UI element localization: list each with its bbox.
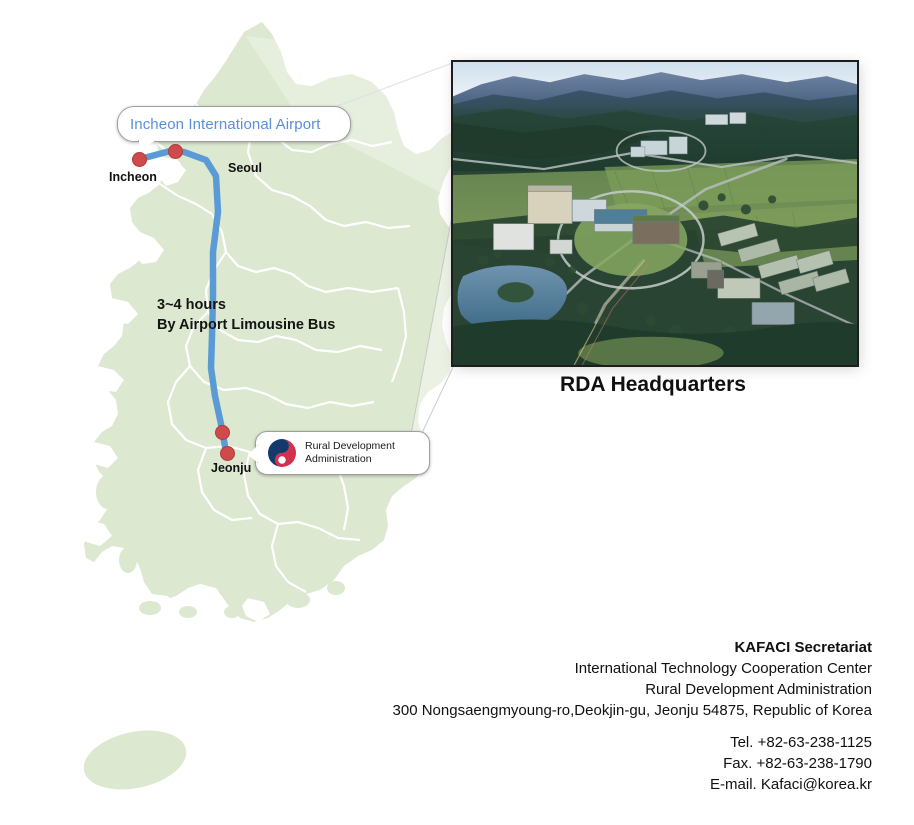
callout-airport-label: Incheon International Airport bbox=[130, 116, 321, 133]
bus-travel-note: 3~4 hours By Airport Limousine Bus bbox=[157, 295, 335, 335]
callout-rda-line1: Rural Development bbox=[305, 440, 395, 452]
photo-caption: RDA Headquarters bbox=[451, 373, 855, 397]
bus-note-mode: By Airport Limousine Bus bbox=[157, 315, 335, 335]
contact-fax: Fax. +82-63-238-1790 bbox=[710, 753, 872, 774]
contact-block: Tel. +82-63-238-1125 Fax. +82-63-238-179… bbox=[710, 732, 872, 795]
jeju-island bbox=[78, 722, 191, 798]
contact-email[interactable]: E-mail. Kafaci@korea.kr bbox=[710, 774, 872, 795]
address-block: KAFACI Secretariat International Technol… bbox=[393, 637, 872, 721]
city-dot-jeonju-upper bbox=[215, 425, 230, 440]
taegeuk-logo bbox=[266, 437, 298, 469]
bus-note-duration: 3~4 hours bbox=[157, 295, 335, 315]
city-dot-jeonju bbox=[220, 446, 235, 461]
address-line-1: International Technology Cooperation Cen… bbox=[393, 658, 872, 679]
organization-name: KAFACI Secretariat bbox=[393, 637, 872, 658]
city-label-jeonju: Jeonju bbox=[211, 461, 251, 475]
contact-telephone: Tel. +82-63-238-1125 bbox=[710, 732, 872, 753]
city-dot-airport bbox=[168, 144, 183, 159]
callout-incheon-airport[interactable]: Incheon International Airport bbox=[117, 106, 351, 142]
poster-canvas: Incheon Seoul Jeonju 3~4 hours By Airpor… bbox=[0, 0, 914, 825]
rda-headquarters-photo bbox=[451, 60, 859, 367]
city-dot-incheon bbox=[132, 152, 147, 167]
callout-rda-line2: Administration bbox=[305, 453, 372, 465]
callout-rural-development-administration[interactable]: Rural Development Administration bbox=[255, 431, 430, 475]
address-line-3: 300 Nongsaengmyoung-ro,Deokjin-gu, Jeonj… bbox=[393, 700, 872, 721]
callout-rda-text: Rural Development Administration bbox=[305, 440, 395, 466]
city-label-incheon: Incheon bbox=[109, 170, 157, 184]
address-line-2: Rural Development Administration bbox=[393, 679, 872, 700]
city-label-seoul: Seoul bbox=[228, 161, 262, 175]
aerial-campus-rendering bbox=[453, 62, 857, 365]
